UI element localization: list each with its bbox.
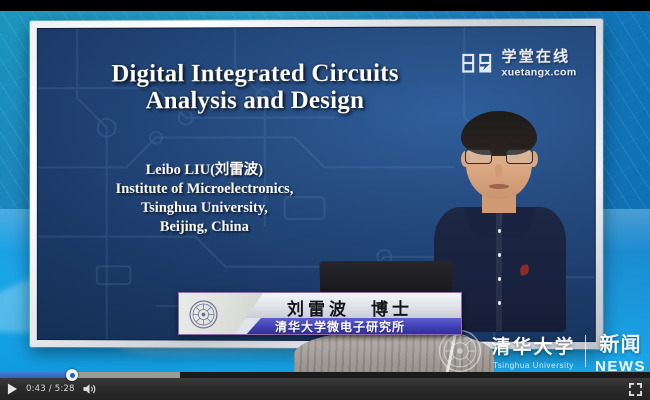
name-plate-bottom-bar: 清华大学微电子研究所 (245, 318, 461, 335)
lower-third-name-plate: 清华大学微电子研究所 刘雷波 博士 (178, 292, 462, 335)
channel-name-cn: 新闻 (600, 328, 642, 357)
play-icon[interactable] (7, 383, 18, 395)
name-plate-name: 刘雷波 博士 (287, 295, 413, 320)
byline-city: Beijing, China (56, 218, 354, 237)
tsinghua-seal-icon (189, 300, 218, 329)
time-display: 0:43 / 5:28 (26, 384, 75, 394)
tsinghua-news-watermark: 清华大学 Tsinghua University 新闻 NEWS (438, 328, 646, 374)
presenter-mouth (489, 184, 509, 189)
slide-title: Digital Integrated Circuits Analysis and… (38, 60, 474, 115)
glasses-lens-left (465, 149, 492, 164)
university-name-cn: 清华大学 (491, 332, 575, 359)
progress-bar-track[interactable] (0, 372, 650, 378)
slide-title-line-1: Digital Integrated Circuits (38, 60, 474, 88)
byline-author: Leibo LIU(刘雷波) (56, 161, 354, 180)
tsinghua-seal-icon (438, 329, 482, 373)
byline-institute: Institute of Microelectronics, (56, 180, 354, 199)
shirt-button (498, 277, 502, 281)
xuetangx-cn-name: 学堂在线 (502, 49, 577, 64)
control-bar-right-group (629, 378, 642, 400)
open-book-icon (460, 50, 494, 77)
control-bar-left-group: 0:43 / 5:28 (7, 378, 96, 400)
slide-byline: Leibo LIU(刘雷波) Institute of Microelectro… (56, 161, 354, 238)
letterbox-top (0, 0, 650, 11)
shirt-button (498, 253, 502, 257)
slide-title-line-2: Analysis and Design (38, 87, 474, 115)
xuetangx-domain: xuetangx.com (502, 67, 577, 78)
glasses-bridge (492, 154, 506, 156)
university-name-en: Tsinghua University (493, 361, 574, 370)
shirt-button (498, 229, 502, 233)
fullscreen-icon[interactable] (629, 383, 642, 396)
glasses-lens-right (506, 149, 533, 164)
name-plate-affiliation: 清华大学微电子研究所 (275, 318, 455, 335)
presenter-nose (495, 164, 502, 177)
watermark-divider (585, 335, 587, 367)
xuetangx-logo-text: 学堂在线 xuetangx.com (502, 49, 577, 78)
byline-university: Tsinghua University, (56, 199, 354, 218)
glasses-icon (465, 149, 533, 164)
video-player[interactable]: Digital Integrated Circuits Analysis and… (0, 0, 650, 400)
video-viewport[interactable]: Digital Integrated Circuits Analysis and… (0, 11, 650, 378)
volume-icon[interactable] (83, 383, 96, 395)
xuetangx-logo: 学堂在线 xuetangx.com (460, 49, 576, 78)
player-control-bar[interactable]: 0:43 / 5:28 (0, 378, 650, 400)
